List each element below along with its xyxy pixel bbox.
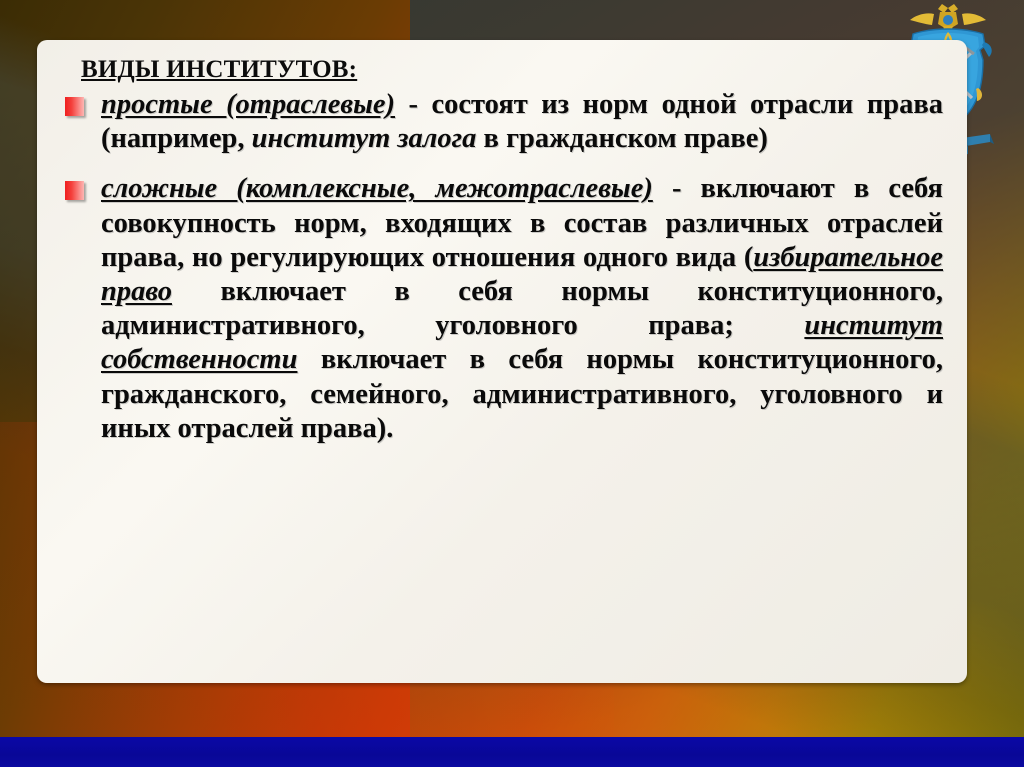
content-card: ВИДЫ ИНСТИТУТОВ: простые (отраслевые) - … bbox=[37, 40, 967, 683]
bottom-accent-bar bbox=[0, 737, 1024, 767]
page-title: ВИДЫ ИНСТИТУТОВ: bbox=[81, 56, 943, 84]
red-square-bullet-icon bbox=[65, 181, 84, 200]
list-item-text: простые (отраслевые) - состоят из норм о… bbox=[101, 88, 943, 156]
bullet-1-emphasis: институт залога bbox=[252, 123, 477, 154]
bullet-2-term: сложные (комплексные, межотраслевые) bbox=[101, 173, 653, 204]
list-item: сложные (комплексные, межотраслевые) - в… bbox=[59, 172, 943, 446]
double-headed-eagle-icon bbox=[910, 4, 986, 32]
presentation-slide: ЧЕСТЬ ВИДЫ ИНСТИТУТОВ: простые (отраслев… bbox=[0, 0, 1024, 767]
bullet-1-term: простые (отраслевые) bbox=[101, 89, 395, 120]
list-item: простые (отраслевые) - состоят из норм о… bbox=[59, 88, 943, 156]
bullet-1-tail: в гражданском праве) bbox=[476, 123, 767, 154]
page-title-text: ВИДЫ ИНСТИТУТОВ: bbox=[81, 56, 357, 83]
red-square-bullet-icon bbox=[65, 97, 84, 116]
list-item-text: сложные (комплексные, межотраслевые) - в… bbox=[101, 172, 943, 446]
